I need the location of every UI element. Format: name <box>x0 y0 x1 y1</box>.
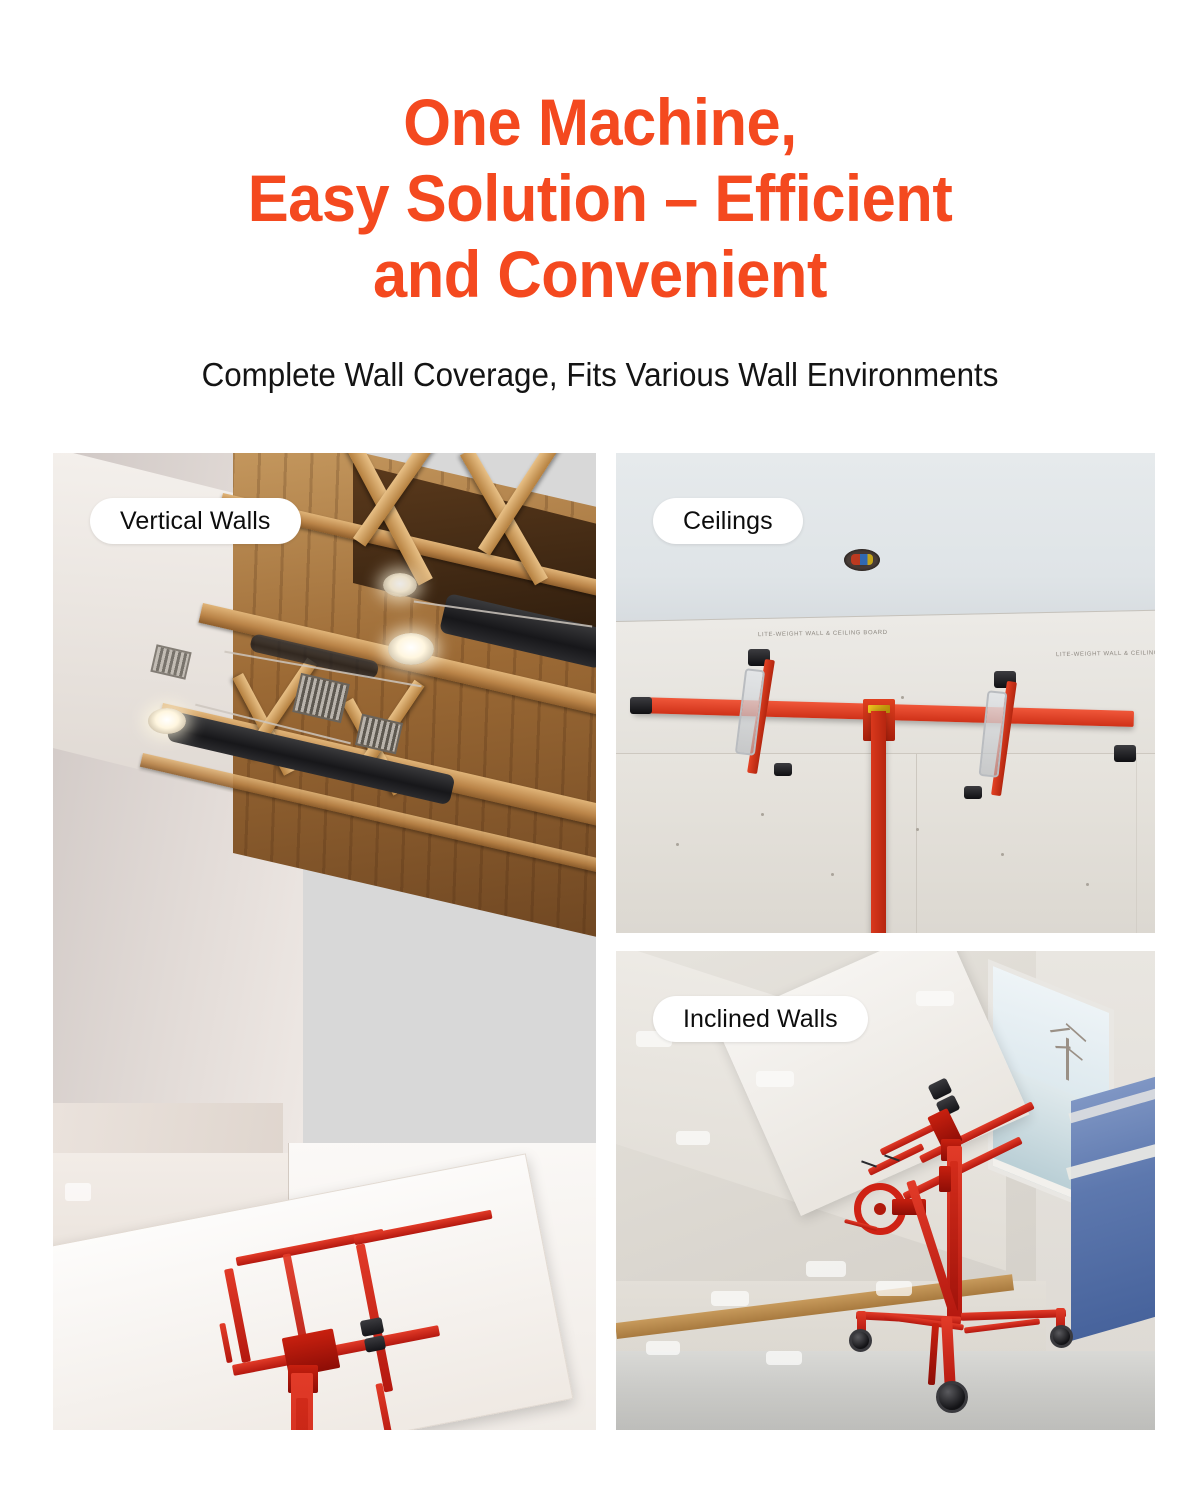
badge-label: Ceilings <box>683 507 773 536</box>
caster-wheel <box>1050 1325 1073 1348</box>
badge-vertical-walls[interactable]: Vertical Walls <box>90 498 301 544</box>
screw <box>1086 883 1089 886</box>
front-leg-brace <box>928 1323 939 1385</box>
screw <box>761 813 764 816</box>
headline-line-2: Easy Solution – Efficient <box>42 160 1158 236</box>
base-leg <box>961 1309 1066 1321</box>
mast-collar <box>939 1166 951 1192</box>
winch-hub <box>874 1203 886 1215</box>
photo-vertical-walls <box>53 453 596 1430</box>
base-brace <box>964 1318 1040 1333</box>
panel-ceilings: LITE-WEIGHT WALL & CEILING BOARD LITE-WE… <box>616 453 1155 933</box>
support-hook <box>219 1323 233 1363</box>
lift-mast <box>871 711 886 933</box>
screw <box>676 843 679 846</box>
badge-ceilings[interactable]: Ceilings <box>653 498 803 544</box>
headline-line-3: and Convenient <box>42 236 1158 312</box>
caster-wheel-front <box>936 1381 968 1413</box>
screw <box>1001 853 1004 856</box>
screw <box>831 873 834 876</box>
screw <box>916 828 919 831</box>
badge-label: Vertical Walls <box>120 507 271 536</box>
page-subtitle: Complete Wall Coverage, Fits Various Wal… <box>30 355 1170 395</box>
lift-mast-inner <box>296 1398 308 1430</box>
cradle-end-cap <box>1114 745 1136 762</box>
lift-mast-inner <box>950 1161 958 1311</box>
headline-line-1: One Machine, <box>42 84 1158 160</box>
cradle-end-cap <box>630 697 652 714</box>
page-title: One Machine, Easy Solution – Efficient a… <box>42 84 1158 312</box>
wall-seam <box>916 753 917 933</box>
wall-seam <box>1136 753 1137 933</box>
cradle-end-cap <box>774 763 792 776</box>
marketing-page: One Machine, Easy Solution – Efficient a… <box>0 0 1200 1500</box>
drywall-lift-machine <box>53 453 596 1430</box>
caster-wheel <box>849 1329 872 1352</box>
badge-inclined-walls[interactable]: Inclined Walls <box>653 996 868 1042</box>
cradle-arm <box>353 1210 492 1246</box>
screw <box>901 696 904 699</box>
panel-inclined-walls: Inclined Walls <box>616 951 1155 1430</box>
cradle-end-cap <box>964 786 982 799</box>
panel-vertical-walls: Vertical Walls <box>53 453 596 1430</box>
hook-wire <box>861 1160 877 1167</box>
ceiling-junction-box-hole <box>844 549 880 571</box>
badge-label: Inclined Walls <box>683 1005 838 1034</box>
